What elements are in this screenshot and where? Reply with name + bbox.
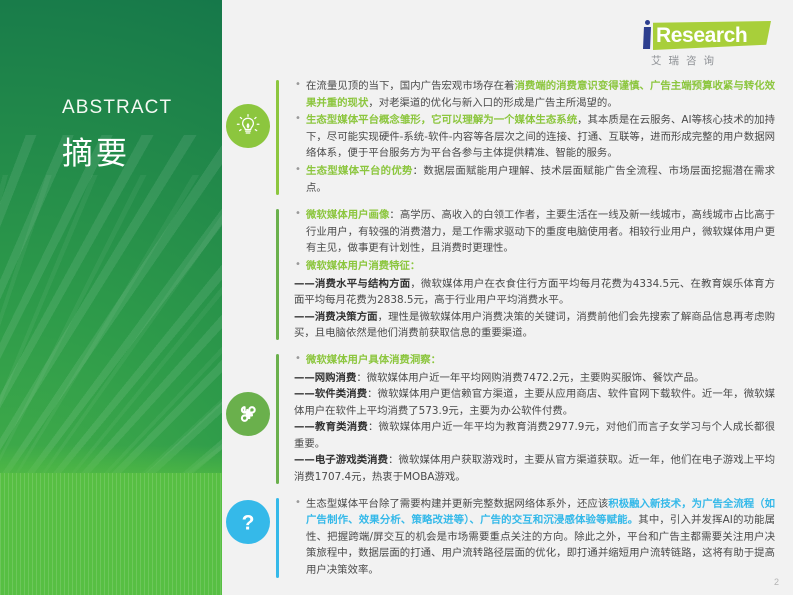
highlight-green-text: 微软媒体用户消费特征： xyxy=(306,260,420,272)
slide-root: ABSTRACT 摘要 Research 艾瑞咨询 在流量见顶的当下，国内广告宏… xyxy=(0,0,793,595)
body-run: ：微软媒体用户更信赖官方渠道，主要从应用商店、软件官网下载软件。近一年，微软媒体… xyxy=(294,388,775,417)
bottom-stripe-band xyxy=(0,473,222,595)
bullet-list: 微软媒体用户画像：高学历、高收入的白领工作者，主要生活在一线及新一线城市，高线城… xyxy=(294,207,775,274)
bold-lead-text: ——消费决策方面 xyxy=(294,311,378,323)
bold-lead-text: ——软件类消费 xyxy=(294,388,367,400)
body-run: 生态型媒体平台除了需要构建并更新完整数据网络体系外，还应该 xyxy=(306,498,608,510)
highlight-green-text: 生态型媒体平台的优势 xyxy=(306,165,413,177)
stripe-pattern xyxy=(0,473,222,595)
bold-lead-text: ——电子游戏类消费 xyxy=(294,454,388,466)
bullet-list: 在流量见顶的当下，国内广告宏观市场存在着消费端的消费意识变得谨慎、广告主端预算收… xyxy=(294,78,775,196)
iresearch-logo: Research 艾瑞咨询 xyxy=(637,18,779,70)
logo-mark: Research xyxy=(637,18,779,52)
bullet-item: 生态型媒体平台的优势：数据层面赋能用户理解、技术层面赋能广告全流程、市场层面挖掘… xyxy=(294,163,775,196)
svg-text:?: ? xyxy=(242,511,255,534)
block-gutter: ? xyxy=(222,496,294,580)
dash-item: ——教育类消费：微软媒体用户近一年平均为教育消费2977.9元，对他们而言子女学… xyxy=(294,419,775,452)
block-gutter xyxy=(222,352,294,486)
abstract-blocks: 在流量见顶的当下，国内广告宏观市场存在着消费端的消费意识变得谨慎、广告主端预算收… xyxy=(222,78,793,590)
abstract-block: 在流量见顶的当下，国内广告宏观市场存在着消费端的消费意识变得谨慎、广告主端预算收… xyxy=(222,78,793,197)
body-run: ，对老渠道的优化与新入口的形成是广告主所渴望的。 xyxy=(368,97,617,109)
command-loop-icon xyxy=(226,392,270,436)
highlight-green-text: 微软媒体用户具体消费洞察： xyxy=(306,354,441,366)
block-text: 在流量见顶的当下，国内广告宏观市场存在着消费端的消费意识变得谨慎、广告主端预算收… xyxy=(294,78,793,197)
bold-lead-text: ——消费水平与结构方面 xyxy=(294,278,410,290)
accent-bar xyxy=(276,498,279,578)
bold-lead-text: ——网购消费 xyxy=(294,372,356,384)
block-gutter xyxy=(222,78,294,197)
body-run: ：微软媒体用户近一年平均网购消费7472.2元，主要购买服饰、餐饮产品。 xyxy=(356,372,704,384)
bullet-item: 生态型媒体平台概念雏形，它可以理解为一个媒体生态系统，其本质是在云服务、AI等核… xyxy=(294,112,775,162)
abstract-block: 微软媒体用户画像：高学历、高收入的白领工作者，主要生活在一线及新一线城市，高线城… xyxy=(222,207,793,342)
bold-lead-text: ——教育类消费 xyxy=(294,421,368,433)
block-text: 微软媒体用户具体消费洞察：——网购消费：微软媒体用户近一年平均网购消费7472.… xyxy=(294,352,793,486)
logo-chinese-name: 艾瑞咨询 xyxy=(651,53,775,68)
left-title-panel: ABSTRACT 摘要 xyxy=(0,0,222,595)
block-text: 生态型媒体平台除了需要构建并更新完整数据网络体系外，还应该积极融入新技术，为广告… xyxy=(294,496,793,580)
accent-bar xyxy=(276,209,279,340)
accent-bar xyxy=(276,80,279,195)
bullet-item: 微软媒体用户画像：高学历、高收入的白领工作者，主要生活在一线及新一线城市，高线城… xyxy=(294,207,775,257)
content-area: Research 艾瑞咨询 在流量见顶的当下，国内广告宏观市场存在着消费端的消费… xyxy=(222,0,793,595)
block-gutter xyxy=(222,207,294,342)
page-number: 2 xyxy=(774,577,779,587)
lightbulb-icon xyxy=(226,104,270,148)
dash-item: ——消费决策方面，理性是微软媒体用户消费决策的关键词，消费前他们会先搜索了解商品… xyxy=(294,309,775,342)
bullet-item: 微软媒体用户具体消费洞察： xyxy=(294,352,775,369)
section-title: ABSTRACT 摘要 xyxy=(62,98,172,169)
bullet-item: 生态型媒体平台除了需要构建并更新完整数据网络体系外，还应该积极融入新技术，为广告… xyxy=(294,496,775,579)
bullet-list: 微软媒体用户具体消费洞察： xyxy=(294,352,775,369)
abstract-block: ?生态型媒体平台除了需要构建并更新完整数据网络体系外，还应该积极融入新技术，为广… xyxy=(222,496,793,580)
logo-wordmark: Research xyxy=(656,22,772,50)
question-mark-icon: ? xyxy=(226,500,270,544)
highlight-green-text: 生态型媒体平台概念雏形，它可以理解为一个媒体生态系统 xyxy=(306,114,577,126)
abstract-block: 微软媒体用户具体消费洞察：——网购消费：微软媒体用户近一年平均网购消费7472.… xyxy=(222,352,793,486)
bullet-list: 生态型媒体平台除了需要构建并更新完整数据网络体系外，还应该积极融入新技术，为广告… xyxy=(294,496,775,579)
logo-dot-icon xyxy=(645,20,650,25)
section-title-cn: 摘要 xyxy=(62,138,172,169)
body-run: 在流量见顶的当下，国内广告宏观市场存在着 xyxy=(306,80,514,92)
accent-bar xyxy=(276,354,279,484)
dash-item: ——软件类消费：微软媒体用户更信赖官方渠道，主要从应用商店、软件官网下载软件。近… xyxy=(294,386,775,419)
highlight-green-text: 微软媒体用户画像 xyxy=(306,209,389,221)
dash-item: ——消费水平与结构方面，微软媒体用户在衣食住行方面平均每月花费为4334.5元、… xyxy=(294,276,775,309)
block-text: 微软媒体用户画像：高学历、高收入的白领工作者，主要生活在一线及新一线城市，高线城… xyxy=(294,207,793,342)
section-title-en: ABSTRACT xyxy=(62,98,172,117)
logo-letter-i-icon xyxy=(643,27,651,49)
bullet-item: 微软媒体用户消费特征： xyxy=(294,258,775,275)
bullet-item: 在流量见顶的当下，国内广告宏观市场存在着消费端的消费意识变得谨慎、广告主端预算收… xyxy=(294,78,775,111)
dash-item: ——网购消费：微软媒体用户近一年平均网购消费7472.2元，主要购买服饰、餐饮产… xyxy=(294,370,775,387)
dash-item: ——电子游戏类消费：微软媒体用户获取游戏时，主要从官方渠道获取。近一年，他们在电… xyxy=(294,452,775,485)
